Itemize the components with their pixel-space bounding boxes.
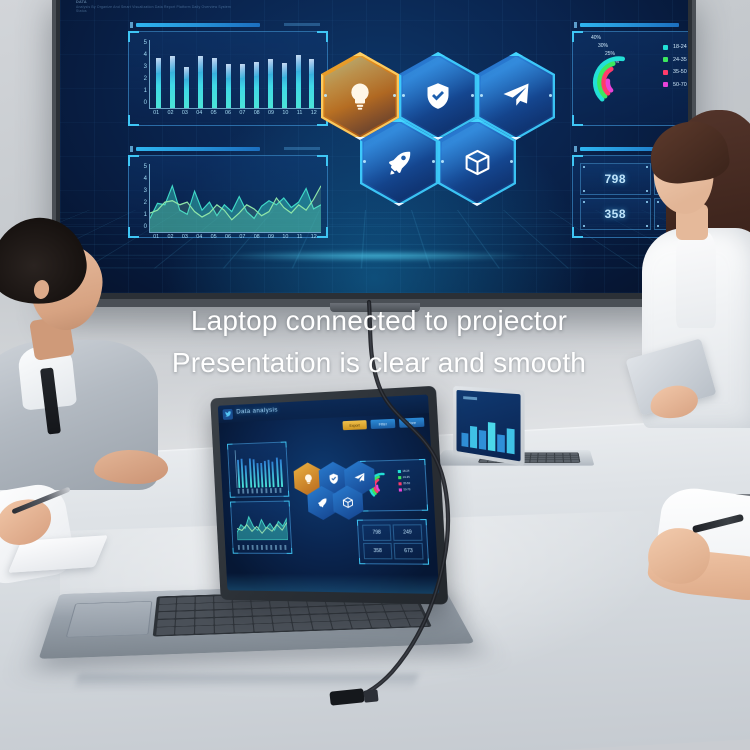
laptop-kpi-panel[interactable]: 798 249 358 673 xyxy=(357,519,429,565)
keyboard-key[interactable] xyxy=(329,614,348,621)
laptop-donut-legend: 18-2424-3535-5050-70 xyxy=(398,469,422,494)
bar xyxy=(268,460,271,488)
keyboard-key[interactable] xyxy=(234,617,252,624)
shield-check-icon xyxy=(328,473,340,485)
bird-logo-icon xyxy=(222,408,233,419)
rocket-icon xyxy=(385,148,414,177)
laptop-line-panel[interactable] xyxy=(230,501,292,554)
background-laptop-screen xyxy=(456,390,520,462)
laptop-kpi-value: 358 xyxy=(363,543,392,559)
person-right-woman xyxy=(636,104,750,434)
bar xyxy=(248,459,251,488)
laptop-screen-title: Data analysis xyxy=(236,406,278,415)
keyboard-key[interactable] xyxy=(327,606,346,613)
legend-swatch xyxy=(398,476,401,479)
laptop-button-filter[interactable]: Filter xyxy=(370,419,395,429)
legend-row: 35-50 xyxy=(398,482,421,486)
legend-label: 18-24 xyxy=(402,470,409,473)
keyboard-key[interactable] xyxy=(176,626,194,634)
lightbulb-icon xyxy=(302,473,314,485)
laptop-shadow xyxy=(73,674,418,690)
bar xyxy=(275,457,278,487)
keyboard-key[interactable] xyxy=(270,601,288,608)
bar xyxy=(241,459,244,488)
legend-row: 18-24 xyxy=(398,469,421,473)
screenshot-scene: DATA Analysis By Organize And Smart Visu… xyxy=(0,0,750,750)
legend-label: 50-70 xyxy=(403,488,410,491)
keyboard-key[interactable] xyxy=(370,620,390,627)
laptop-lid: Data analysis Export Filter More xyxy=(210,386,448,605)
paper-plane-icon xyxy=(353,472,366,484)
laptop-button-more[interactable]: More xyxy=(399,417,424,427)
rocket-icon xyxy=(316,497,328,509)
keyboard-key[interactable] xyxy=(215,603,232,610)
keyboard-key[interactable] xyxy=(348,613,367,620)
keyboard-key[interactable] xyxy=(253,609,271,616)
keyboard-key[interactable] xyxy=(215,617,233,624)
bar xyxy=(264,461,267,487)
keyboard-key[interactable] xyxy=(253,616,271,623)
bar xyxy=(252,459,255,487)
cube-icon xyxy=(463,148,492,177)
keyboard-key[interactable] xyxy=(156,619,174,626)
legend-swatch xyxy=(398,483,401,486)
keyboard-key[interactable] xyxy=(235,624,253,632)
donut-arc xyxy=(377,486,379,490)
keyboard-key[interactable] xyxy=(196,626,214,634)
keyboard-key[interactable] xyxy=(234,609,252,616)
keyboard-key[interactable] xyxy=(310,614,329,621)
keyboard-key[interactable] xyxy=(351,621,371,629)
keyboard-key[interactable] xyxy=(215,625,233,633)
keyboard-key[interactable] xyxy=(408,619,429,626)
bar xyxy=(280,459,283,487)
keyboard-key[interactable] xyxy=(405,611,425,618)
keyboard-key[interactable] xyxy=(389,619,409,626)
legend-swatch xyxy=(399,489,402,492)
background-laptop-lid xyxy=(453,386,524,466)
shield-check-icon xyxy=(423,81,453,111)
laptop-screen-glow xyxy=(227,573,440,594)
bar xyxy=(245,465,248,488)
keyboard-key[interactable] xyxy=(331,621,351,629)
bar xyxy=(272,462,275,487)
laptop-screen-buttons: Export Filter More xyxy=(342,417,424,430)
keyboard-key[interactable] xyxy=(233,602,251,609)
legend-row: 24-35 xyxy=(398,476,421,480)
keyboard-key[interactable] xyxy=(215,610,233,617)
legend-label: 35-50 xyxy=(403,482,410,485)
laptop-bar-panel[interactable] xyxy=(227,442,289,498)
laptop-kpi-value: 249 xyxy=(393,524,423,541)
keyboard-key[interactable] xyxy=(271,608,289,615)
keyboard-key[interactable] xyxy=(274,623,293,631)
keyboard-key[interactable] xyxy=(156,627,175,635)
person-bottom-right xyxy=(600,498,750,648)
keyboard-key[interactable] xyxy=(346,605,365,612)
laptop-screen[interactable]: Data analysis Export Filter More xyxy=(218,394,439,594)
keyboard-key[interactable] xyxy=(386,612,406,619)
laptop-kpi-value: 673 xyxy=(394,543,424,560)
legend-label: 24-35 xyxy=(403,476,410,479)
legend-swatch xyxy=(398,470,401,473)
keyboard-key[interactable] xyxy=(252,601,270,608)
keyboard-key[interactable] xyxy=(383,604,403,611)
paper-plane-icon xyxy=(501,81,531,111)
keyboard-key[interactable] xyxy=(272,615,291,622)
person-bottom-left xyxy=(0,470,200,620)
bar xyxy=(237,460,240,488)
keyboard-key[interactable] xyxy=(312,622,331,630)
keyboard-key[interactable] xyxy=(254,624,273,632)
lightbulb-icon xyxy=(345,81,375,111)
bar xyxy=(256,463,259,487)
keyboard-key[interactable] xyxy=(367,612,387,619)
legend-row: 50-70 xyxy=(399,488,422,492)
keyboard-key[interactable] xyxy=(365,605,384,612)
bar xyxy=(260,463,263,487)
laptop-area-svg xyxy=(236,507,288,541)
background-laptop[interactable] xyxy=(438,388,598,486)
projector-display-stand xyxy=(330,303,420,312)
keyboard-key[interactable] xyxy=(290,607,309,614)
keyboard-key[interactable] xyxy=(401,604,421,611)
keyboard-key[interactable] xyxy=(309,607,328,614)
laptop-button-export[interactable]: Export xyxy=(342,420,366,430)
laptop-kpi-value: 798 xyxy=(362,524,391,540)
keyboard-key[interactable] xyxy=(291,615,310,622)
cube-icon xyxy=(342,496,355,508)
keyboard-key[interactable] xyxy=(293,622,312,630)
woman-inner-top xyxy=(676,232,716,328)
